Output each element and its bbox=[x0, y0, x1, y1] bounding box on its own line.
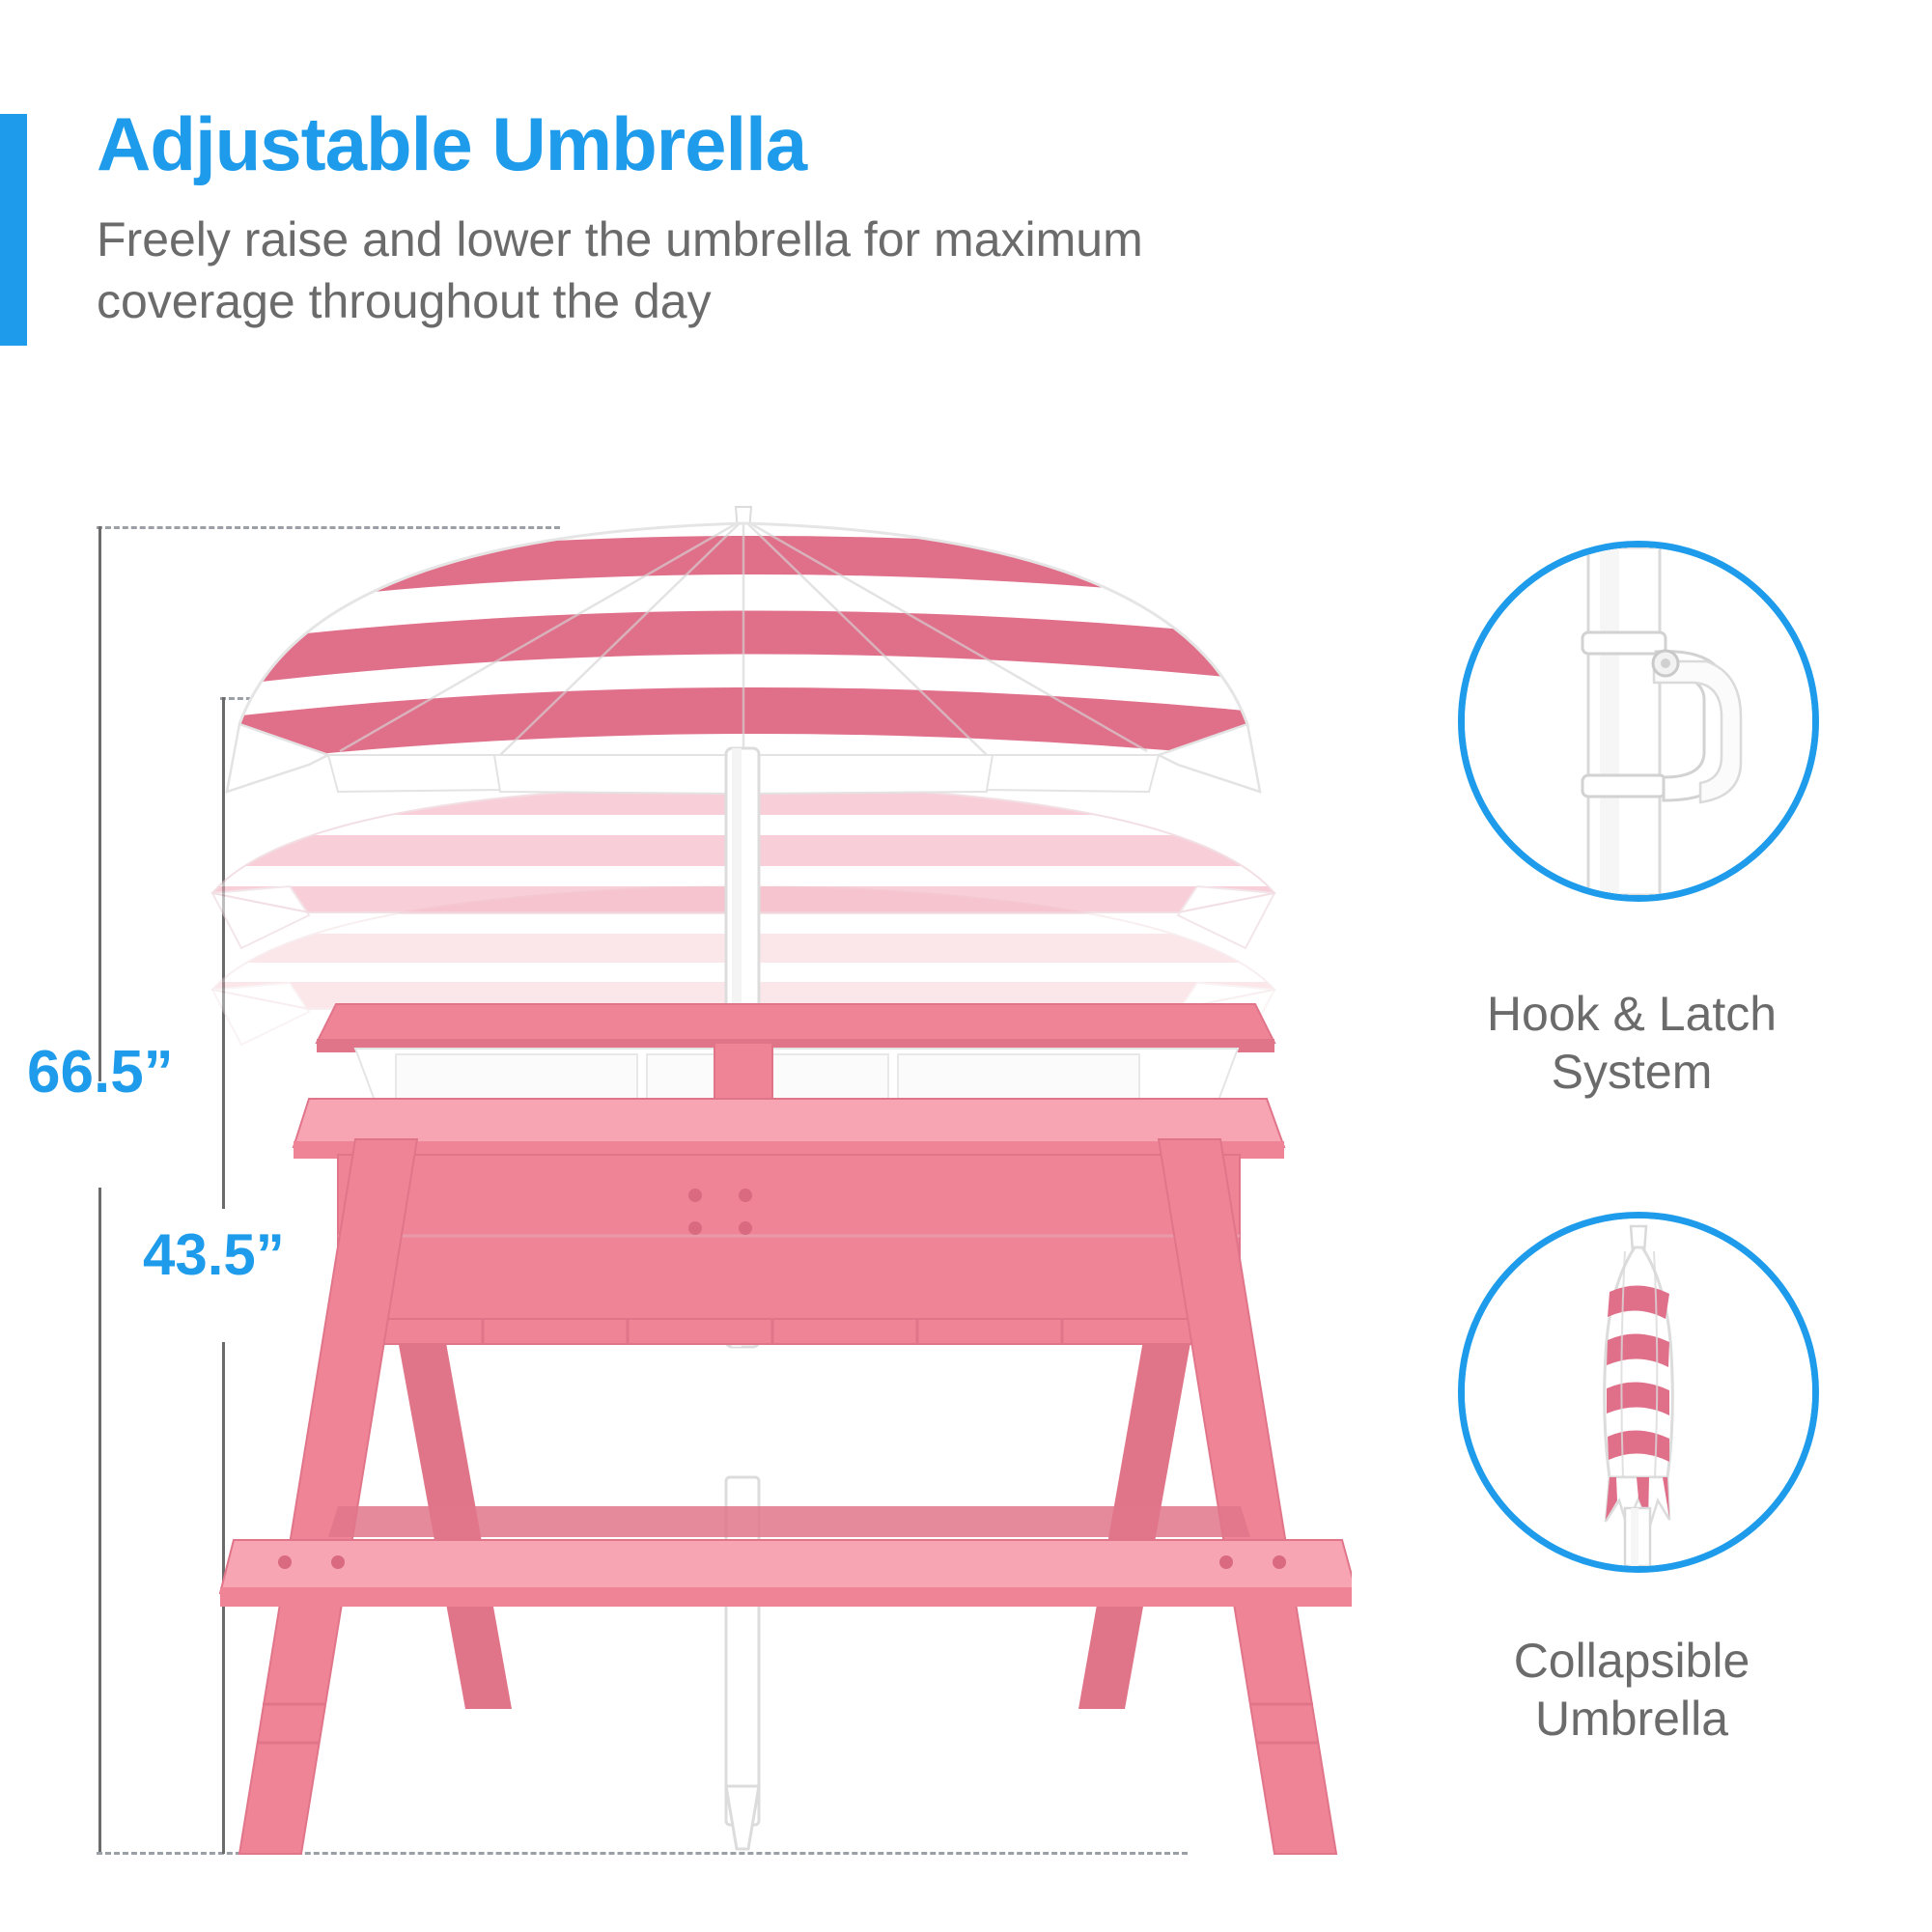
callout-hook-latch bbox=[1458, 541, 1819, 902]
product-illustration bbox=[193, 502, 1352, 1873]
page-subtitle: Freely raise and lower the umbrella for … bbox=[97, 209, 1255, 332]
callout-caption-line2: Umbrella bbox=[1535, 1692, 1728, 1746]
collapsible-umbrella-illustration bbox=[1465, 1218, 1812, 1566]
dimension-line-vertical-66-lower bbox=[98, 1188, 101, 1854]
page-title: Adjustable Umbrella bbox=[97, 100, 806, 188]
callout-collapsible-umbrella bbox=[1458, 1212, 1819, 1573]
callout-caption-collapsible: Collapsible Umbrella bbox=[1410, 1632, 1854, 1748]
accent-bar bbox=[0, 114, 27, 346]
dimension-label-overall-height: 66.5” bbox=[27, 1038, 174, 1106]
callout-caption-line1: Collapsible bbox=[1514, 1634, 1750, 1688]
umbrella-canopy bbox=[193, 502, 1352, 794]
picnic-table bbox=[220, 1004, 1352, 1854]
hook-latch-illustration bbox=[1465, 547, 1812, 895]
header-block: Adjustable Umbrella Freely raise and low… bbox=[0, 114, 1352, 346]
dimension-line-vertical-66 bbox=[98, 526, 101, 1081]
callout-caption-line2: System bbox=[1552, 1045, 1713, 1099]
callout-caption-hook-latch: Hook & Latch System bbox=[1410, 985, 1854, 1101]
callout-caption-line1: Hook & Latch bbox=[1487, 987, 1777, 1041]
